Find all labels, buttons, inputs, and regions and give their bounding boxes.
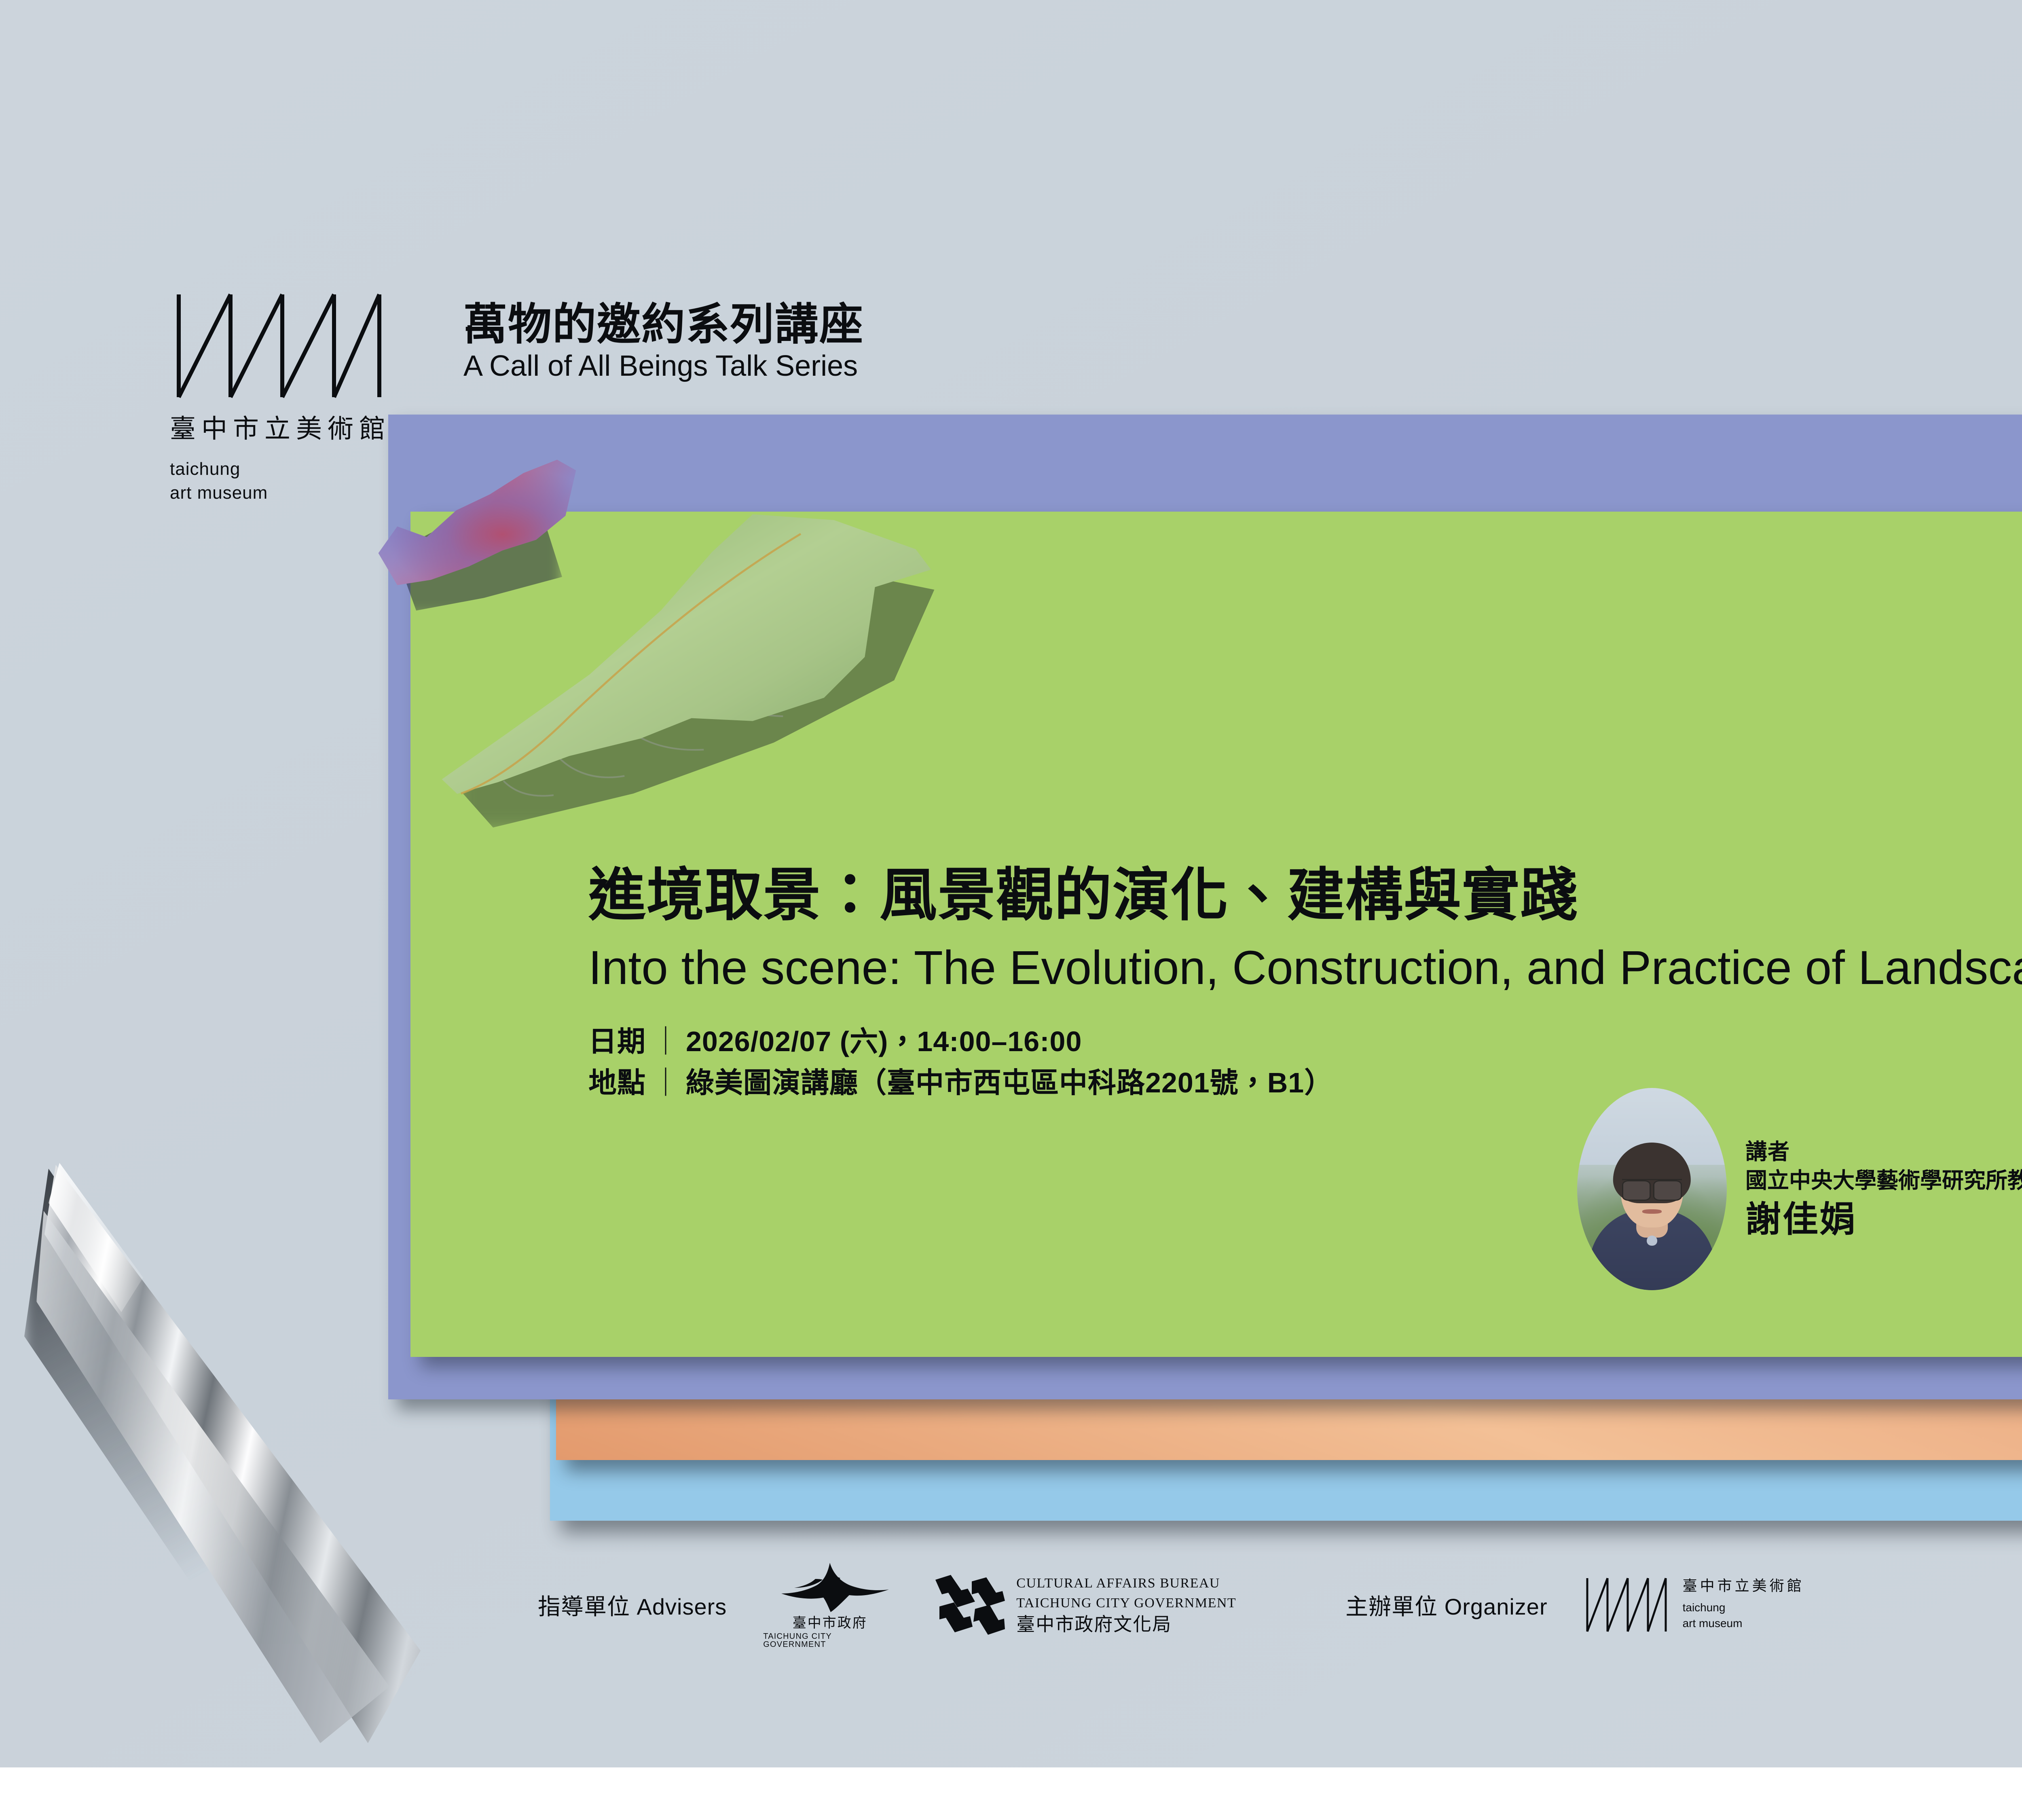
- speaker-1-name: 謝佳娟: [1745, 1198, 2022, 1241]
- tam-cn: 臺中市立美術館: [1683, 1579, 1804, 1593]
- poster-footer: 指導單位 Advisers 臺中市政府 TAICHUNG CITY GOVERN…: [538, 1561, 1804, 1649]
- tcg-name-en: TAICHUNG CITY GOVERNMENT: [763, 1632, 897, 1649]
- cultural-affairs-bureau-logo: CULTURAL AFFAIRS BUREAU TAICHUNG CITY GO…: [933, 1572, 1236, 1637]
- diagonal-strokes-logo-icon: [933, 1572, 1006, 1637]
- main-copy-block: 進境取景：風景觀的演化、建構與實踐 Into the scene: The Ev…: [588, 861, 2022, 1103]
- organizer-label: 主辦單位 Organizer: [1345, 1589, 1547, 1621]
- cab-en-line1: CULTURAL AFFAIRS BUREAU: [1016, 1575, 1236, 1592]
- cab-wordmark: CULTURAL AFFAIRS BUREAU TAICHUNG CITY GO…: [1016, 1575, 1236, 1635]
- series-title-en: A Call of All Beings Talk Series: [463, 349, 864, 383]
- tam-wordmark: 臺中市立美術館 taichung art museum: [1683, 1579, 1804, 1631]
- taichung-art-museum-logo: 臺中市立美術館 taichung art museum: [1584, 1577, 1804, 1633]
- museum-name-cn: 臺中市立美術館: [170, 416, 391, 442]
- venue-separator: ｜: [646, 1067, 686, 1098]
- speaker-card: 講者 國立中央大學藝術學研究所教授 謝佳娟: [1577, 1088, 2022, 1290]
- venue-label: 地點: [588, 1067, 646, 1098]
- cab-en-line2: TAICHUNG CITY GOVERNMENT: [1016, 1595, 1236, 1612]
- venue-value: 綠美圖演講廳（臺中市西屯區中科路2201號，B1）: [686, 1067, 1333, 1098]
- series-title-block: 萬物的邀約系列講座 A Call of All Beings Talk Seri…: [463, 291, 864, 383]
- speaker-1-text: 講者 國立中央大學藝術學研究所教授 謝佳娟: [1745, 1138, 2022, 1241]
- series-title-cn: 萬物的邀約系列講座: [463, 300, 864, 349]
- date-value: 2026/02/07 (六)，14:00–16:00: [686, 1026, 1082, 1057]
- talk-title-cn: 進境取景：風景觀的演化、建構與實踐: [588, 861, 2022, 929]
- poster-sheet: A Call of All Beings 萬 物 的 邀 約: [0, 0, 2022, 1767]
- zigzag-wave-logo-icon: [1584, 1577, 1669, 1633]
- poster-header: 臺中市立美術館 taichung art museum 萬物的邀約系列講座 A …: [170, 291, 864, 505]
- museum-name-en-line2: art museum: [170, 481, 391, 505]
- metallic-page-curl-bottom-left-icon: [0, 1141, 445, 1767]
- speaker-1-affiliation: 國立中央大學藝術學研究所教授: [1745, 1166, 2022, 1196]
- museum-name-en-line1: taichung: [170, 457, 391, 481]
- speakers-section: 講者 國立中央大學藝術學研究所教授 謝佳娟 講者 國立臺灣師範大學美術學系教授 …: [1577, 1088, 2022, 1290]
- cab-cn: 臺中市政府文化局: [1016, 1614, 1236, 1635]
- speaker-1-avatar: [1577, 1088, 1727, 1290]
- tam-en-line1: taichung: [1683, 1600, 1804, 1615]
- zigzag-wave-logo-icon: [170, 291, 388, 400]
- tcg-name-cn: 臺中市政府: [793, 1616, 867, 1630]
- museum-logo-block: 臺中市立美術館 taichung art museum: [170, 291, 391, 505]
- museum-name-en: taichung art museum: [170, 457, 391, 505]
- date-label: 日期: [588, 1026, 646, 1057]
- tam-en-line2: art museum: [1683, 1615, 1804, 1631]
- advisers-label: 指導單位 Advisers: [538, 1589, 727, 1621]
- taichung-city-government-logo: 臺中市政府 TAICHUNG CITY GOVERNMENT: [763, 1561, 897, 1649]
- date-separator: ｜: [646, 1026, 686, 1057]
- tam-en: taichung art museum: [1683, 1600, 1804, 1631]
- event-date-row: 日期｜2026/02/07 (六)，14:00–16:00: [588, 1021, 2022, 1062]
- talk-title-en: Into the scene: The Evolution, Construct…: [588, 939, 2022, 997]
- mountain-peaks-logo-icon: [769, 1561, 890, 1614]
- speaker-1-role-label: 講者: [1745, 1138, 2022, 1166]
